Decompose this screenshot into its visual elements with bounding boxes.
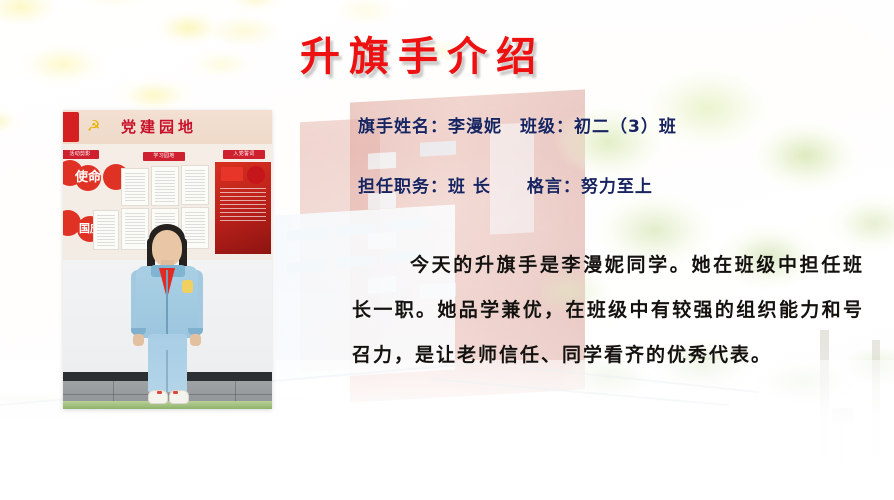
poster-emblem-icon xyxy=(247,166,265,184)
board-panel xyxy=(121,208,149,250)
student-hand-right xyxy=(190,334,201,346)
introduction-paragraph: 今天的升旗手是李漫妮同学。她在班级中担任班长一职。她品学兼优，在班级中有较强的组… xyxy=(352,243,864,378)
board-panel xyxy=(151,166,179,206)
student-shoe-right xyxy=(169,390,189,404)
student-hand-left xyxy=(133,334,144,346)
student-photo: ☭ 党建园地 活动剪影 学习园地 入党誓词 使命 国庆 xyxy=(63,110,272,409)
shoe-accent xyxy=(157,391,162,394)
photo-grass-strip xyxy=(63,401,272,409)
board-tag: 入党誓词 xyxy=(223,150,265,159)
board-panel xyxy=(181,165,209,205)
uniform-zipper xyxy=(166,270,168,336)
red-flag-icon xyxy=(63,112,79,142)
board-tag: 活动剪影 xyxy=(63,150,99,159)
board-circle-badge: 使命 xyxy=(75,165,101,191)
slide-canvas: ☭ 党建园地 活动剪影 学习园地 入党誓词 使命 国庆 xyxy=(0,0,894,500)
board-panel xyxy=(121,168,149,206)
duty-and-motto-line: 担任职务：班 长 格言：努力至上 xyxy=(358,172,653,197)
party-oath-poster xyxy=(215,162,271,254)
party-board-title: 党建园地 xyxy=(99,114,219,140)
trouser-gap xyxy=(166,350,168,392)
school-badge-icon xyxy=(182,280,193,293)
board-tag: 学习园地 xyxy=(143,152,185,161)
page-title: 升旗手介绍 xyxy=(300,24,600,82)
poster-text-block xyxy=(220,188,266,222)
board-panel xyxy=(93,210,119,250)
flag-bearer-name-line: 旗手姓名：李漫妮 班级：初二（3）班 xyxy=(358,112,677,137)
poster-flag-icon xyxy=(221,167,243,181)
shoe-accent xyxy=(173,391,178,394)
